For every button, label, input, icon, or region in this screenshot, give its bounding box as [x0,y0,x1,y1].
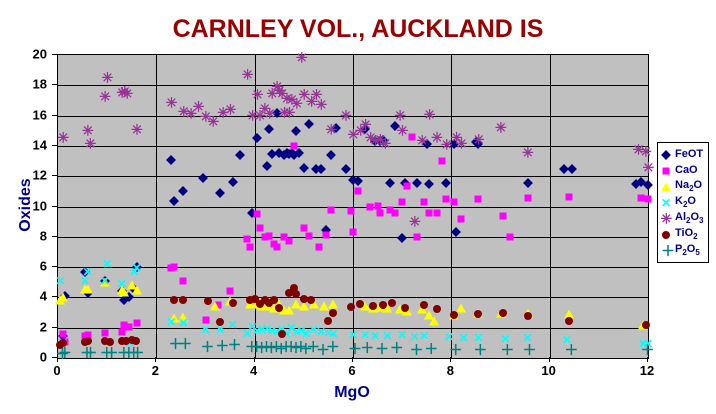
x-tick-label: 4 [250,363,257,378]
legend-item-na2o: Na2O [661,178,708,194]
diamond-icon [661,148,672,161]
plus-icon: ＋ [661,244,672,257]
square-icon [661,164,672,177]
legend-label: TiO2 [675,227,698,241]
x-tick-mark [155,357,156,362]
legend-item-k2o: ✕K2O [661,194,708,210]
legend-label: CaO [675,164,698,176]
legend-item-tio2: TiO2 [661,226,708,242]
circle-icon [661,228,672,241]
x-tick-label: 2 [152,363,159,378]
legend-item-p2o5: ＋P2O5 [661,242,708,258]
chart-container: CARNLEY VOL., AUCKLAND IS ✕✕✕✕✕✕✕✕✕✕✕✕✕✕… [0,0,716,414]
x-icon: ✕ [661,196,672,209]
triangle-icon [661,180,672,193]
legend-label: FeOT [675,148,703,160]
legend-item-feot: FeOT [661,146,708,162]
legend-label: Al2O3 [675,211,703,225]
x-tick-label: 6 [348,363,355,378]
legend-label: P2O5 [675,243,700,257]
x-tick-mark [254,357,255,362]
legend-item-cao: CaO [661,162,708,178]
legend-item-al2o3: ✳Al2O3 [661,210,708,226]
x-tick-label: 12 [640,363,654,378]
x-tick-mark [450,357,451,362]
x-tick-label: 8 [447,363,454,378]
x-axis-title: MgO [57,384,647,402]
asterisk-icon: ✳ [661,212,672,225]
x-tick-mark [549,357,550,362]
x-tick-mark [57,357,58,362]
x-axis: 024681012 [0,0,716,414]
chart-legend: FeOTCaONa2O✕K2O✳Al2O3TiO2＋P2O5 [657,142,709,263]
legend-label: K2O [675,195,696,209]
y-axis-title: Oxides [17,165,35,245]
x-tick-mark [647,357,648,362]
x-tick-label: 10 [541,363,555,378]
x-tick-label: 0 [53,363,60,378]
x-tick-mark [352,357,353,362]
legend-label: Na2O [675,179,702,193]
